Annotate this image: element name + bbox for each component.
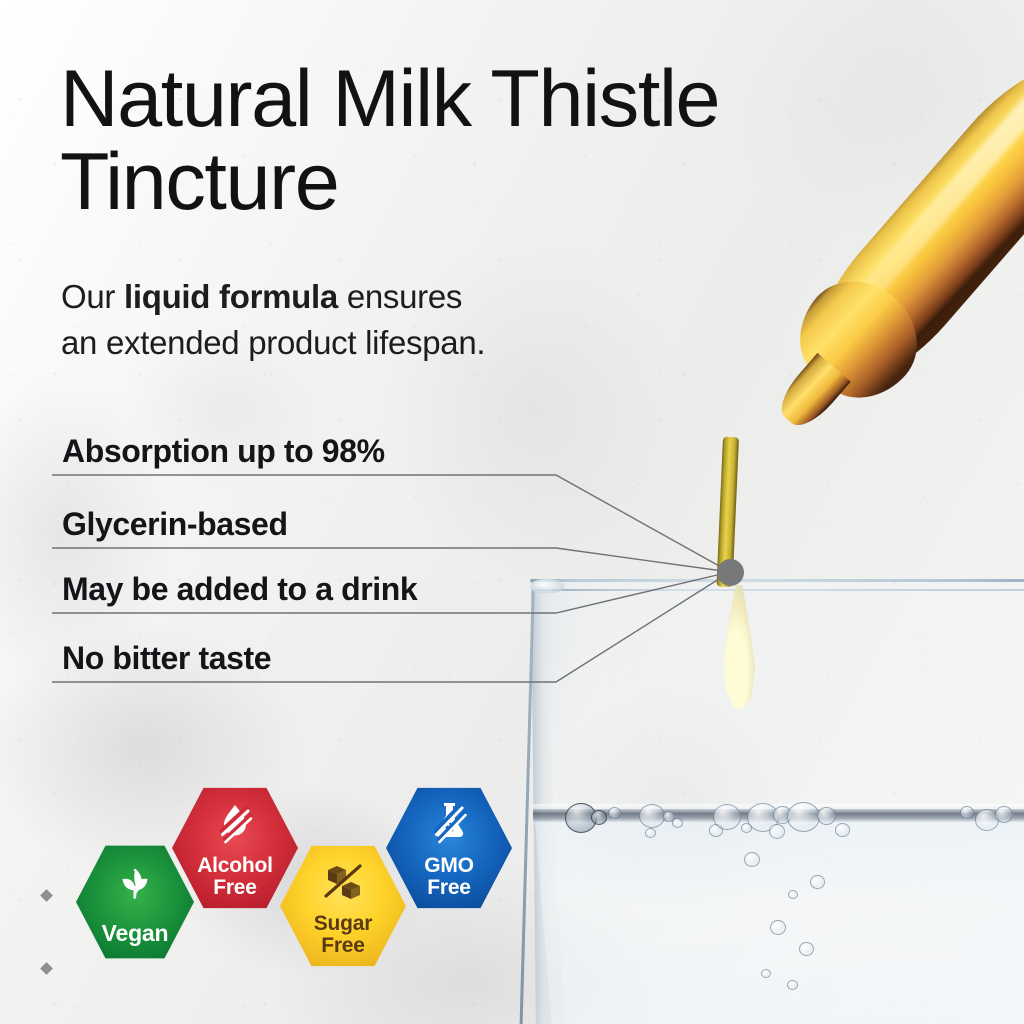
- certification-badges: Vegan Alcohol Free: [0, 0, 1024, 1024]
- badge-alcohol-free: Alcohol Free: [172, 784, 298, 912]
- badge-gmo-free-inner: GMO Free: [386, 784, 512, 912]
- badge-alcohol-free-inner: Alcohol Free: [172, 784, 298, 912]
- badge-vegan-line1: Vegan: [102, 922, 169, 945]
- badge-sugar-free: Sugar Free: [280, 842, 406, 970]
- product-infographic: Natural Milk Thistle Tincture Our liquid…: [0, 0, 1024, 1024]
- badge-alcohol-free-line1: Alcohol: [197, 855, 273, 876]
- badge-gmo-free: GMO Free: [386, 784, 512, 912]
- leaf-icon: [76, 864, 194, 908]
- no-droplet-icon: [172, 800, 298, 844]
- badge-vegan-inner: Vegan: [76, 842, 194, 962]
- badge-gmo-free-line2: Free: [424, 877, 474, 898]
- badge-sugar-free-label: Sugar Free: [314, 913, 373, 956]
- no-flask-icon: [386, 798, 512, 844]
- badge-sugar-free-line1: Sugar: [314, 913, 373, 934]
- badge-gmo-free-label: GMO Free: [424, 855, 474, 898]
- badge-alcohol-free-label: Alcohol Free: [197, 855, 273, 898]
- badge-sugar-free-line2: Free: [314, 935, 373, 956]
- no-sugar-cube-icon: [280, 860, 406, 902]
- badge-gmo-free-line1: GMO: [424, 855, 474, 876]
- badge-vegan: Vegan: [76, 842, 194, 962]
- badge-vegan-label: Vegan: [102, 922, 169, 945]
- badge-alcohol-free-line2: Free: [197, 877, 273, 898]
- badge-sugar-free-inner: Sugar Free: [280, 842, 406, 970]
